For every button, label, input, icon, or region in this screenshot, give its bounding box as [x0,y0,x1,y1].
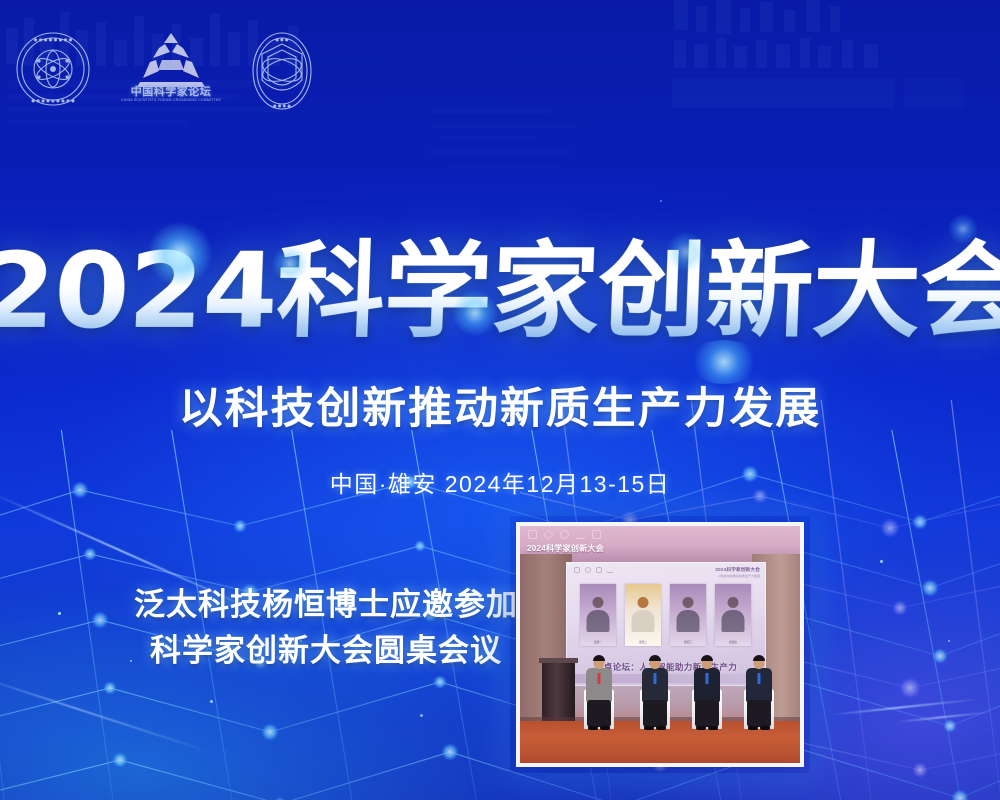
caption-line-2: 科学家创新大会圆桌会议 [126,628,526,674]
photo-frame: 2024科学家创新大会 2024科学家创新大会 以科技创新推动新质生产力发展 [516,522,804,767]
speaker-card-name: 嘉宾四 [715,641,751,644]
panelist-shoe [656,726,666,730]
sparkle-dot [58,612,61,615]
panelist-shoe [708,726,718,730]
oval-institute-seal-logo: ● ● ● ● ● ● ● [250,30,314,112]
speaker-card: 嘉宾四 [715,584,751,646]
sparkle-dot [880,560,883,563]
speaker-portrait-head [683,597,694,608]
panelist [742,655,776,729]
panelist-hair [649,655,661,661]
panelist-shoe [696,726,706,730]
panelist [582,655,616,729]
screen-logo-square-icon [574,567,580,573]
triangle-emblem-text: 中国科学家论坛 CHINA SCIENTISTS FORUM ORGANIZIN… [120,86,222,103]
panelist-shoe [760,726,770,730]
screen-logo-circle-icon [585,567,591,573]
panelist-legs [643,700,667,727]
page-title: 2024科学家创新大会 [0,237,1000,345]
screen-logo-triangle-icon [607,567,613,573]
speaker-card-name: 嘉宾三 [670,641,706,644]
speaker-card-name: 嘉宾二 [625,641,661,644]
panelist-shoe [644,726,654,730]
panelist-badge [758,673,761,684]
panelist [690,655,724,729]
event-caption: 泛太科技杨恒博士应邀参加 科学家创新大会圆桌会议 [126,582,526,674]
oval-seal-icon: ● ● ● ● ● ● ● [250,30,314,112]
speaker-portrait-head [728,597,739,608]
svg-text:● ● ● ● ● ● ● ● ●: ● ● ● ● ● ● ● ● ● [31,98,75,103]
panelist-badge [706,673,709,684]
speaker-card: 嘉宾三 [670,584,706,646]
triangle-emblem-text-en: CHINA SCIENTISTS FORUM ORGANIZING COMMIT… [121,98,221,103]
panelist-legs [695,700,719,727]
background-data-blocks-top-right [660,0,1000,140]
photo-banner-logo-strip [528,530,601,539]
background-data-blocks-center [430,100,630,210]
sparkle-dot [420,714,423,717]
sparkle-dot [948,640,950,642]
triangle-emblem-icon [126,30,216,90]
svg-text:● ● ● ●: ● ● ● ● [273,103,291,108]
panelist-shoe [600,726,610,730]
panelist-legs [587,700,611,727]
event-dateline: 中国·雄安 2024年12月13-15日 [0,470,1000,498]
triangle-emblem-logo: 中国科学家论坛 CHINA SCIENTISTS FORUM ORGANIZIN… [126,30,216,122]
circular-academy-seal-logo: ● ● ● ● ● ● ● ● ● ● ● ● ● ● ● ● ● [14,30,92,108]
panelist-shoe [588,726,598,730]
panelist-hair [701,655,713,661]
logo-row: ● ● ● ● ● ● ● ● ● ● ● ● ● ● ● ● ● [14,30,324,130]
banner-logo-circle-icon [560,530,569,539]
banner-logo-square-icon [528,530,537,539]
triangle-emblem-text-cn: 中国科学家论坛 [120,86,222,98]
screen-speaker-cards: 嘉宾一 嘉宾二 嘉宾三 嘉宾四 [580,584,751,646]
poster-canvas: ● ● ● ● ● ● ● ● ● ● ● ● ● ● ● ● ● [0,0,1000,800]
svg-text:● ● ● ● ● ● ● ●: ● ● ● ● ● ● ● ● [34,37,73,42]
speaker-portrait-body [587,610,610,632]
speaker-card: 嘉宾二 [625,584,661,646]
speaker-card-name: 嘉宾一 [580,641,616,644]
panelist [638,655,672,729]
screen-brand: 2024科学家创新大会 以科技创新推动新质生产力发展 [715,567,760,579]
photo-banner-title: 2024科学家创新大会 [527,543,604,554]
banner-logo-diamond-icon [543,529,553,539]
sparkle-dot [660,200,662,202]
panelist-shoe [748,726,758,730]
banner-logo-triangle-icon [576,530,585,539]
screen-brand-title: 2024科学家创新大会 [715,567,760,572]
speaker-portrait-head [638,597,649,608]
speaker-portrait-head [593,597,604,608]
caption-line-1: 泛太科技杨恒博士应邀参加 [126,582,526,628]
speaker-portrait-body [677,610,700,632]
screen-logo-strip [574,567,613,573]
circular-seal-icon: ● ● ● ● ● ● ● ● ● ● ● ● ● ● ● ● ● [14,30,92,108]
svg-text:● ● ●: ● ● ● [275,37,289,42]
banner-logo-square2-icon [592,530,601,539]
screen-logo-square2-icon [596,567,602,573]
panelist-hair [593,655,605,661]
panelist-badge [654,673,657,684]
screen-brand-subtitle: 以科技创新推动新质生产力发展 [715,573,760,579]
panel-photo: 2024科学家创新大会 2024科学家创新大会 以科技创新推动新质生产力发展 [520,526,800,763]
page-subtitle: 以科技创新推动新质生产力发展 [0,385,1000,433]
sparkle-dot [210,700,213,703]
panelist-badge [598,673,601,684]
speaker-card: 嘉宾一 [580,584,616,646]
panelist-hair [753,655,765,661]
speaker-portrait-body [632,610,655,632]
panelist-legs [747,700,771,727]
speaker-portrait-body [722,610,745,632]
